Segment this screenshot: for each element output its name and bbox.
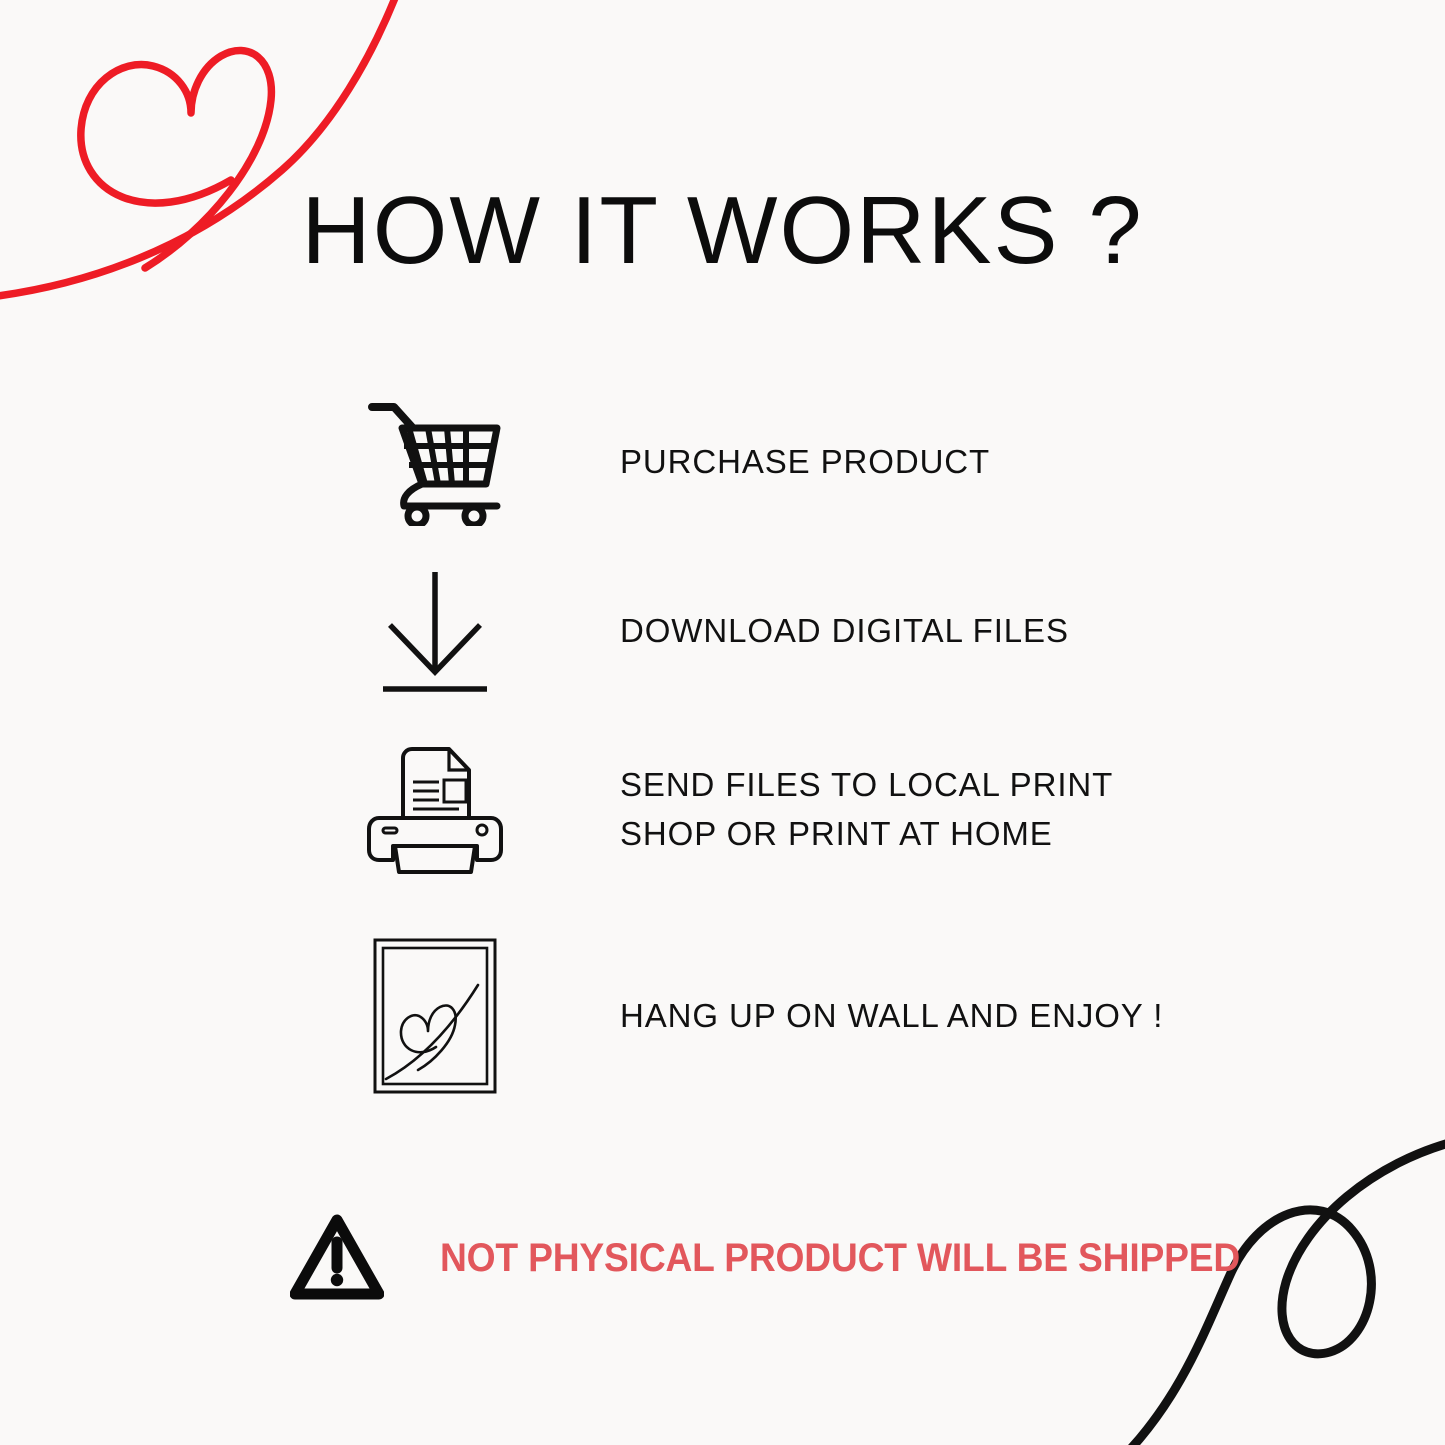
download-arrow-icon <box>360 556 510 706</box>
step-label: DOWNLOAD DIGITAL FILES <box>620 607 1069 656</box>
warning-banner: NOT PHYSICAL PRODUCT WILL BE SHIPPED <box>289 1212 1300 1304</box>
step-label: HANG UP ON WALL AND ENJOY ! <box>620 992 1163 1041</box>
step-hang-on-wall: HANG UP ON WALL AND ENJOY ! <box>360 926 1220 1106</box>
steps-list: PURCHASE PRODUCT DOWNLOAD DIGITAL FILES <box>360 378 1220 1106</box>
step-label: PURCHASE PRODUCT <box>620 438 990 487</box>
step-download-files: DOWNLOAD DIGITAL FILES <box>360 546 1220 716</box>
printer-icon <box>360 735 510 885</box>
warning-triangle-icon <box>289 1212 385 1304</box>
step-print-files: SEND FILES TO LOCAL PRINT SHOP OR PRINT … <box>360 716 1220 904</box>
step-label: SEND FILES TO LOCAL PRINT SHOP OR PRINT … <box>620 761 1113 859</box>
warning-text: NOT PHYSICAL PRODUCT WILL BE SHIPPED <box>440 1236 1240 1281</box>
page-title: HOW IT WORKS ? <box>0 183 1445 279</box>
framed-art-icon <box>360 941 510 1091</box>
step-purchase-product: PURCHASE PRODUCT <box>360 378 1220 546</box>
shopping-cart-icon <box>360 387 510 537</box>
